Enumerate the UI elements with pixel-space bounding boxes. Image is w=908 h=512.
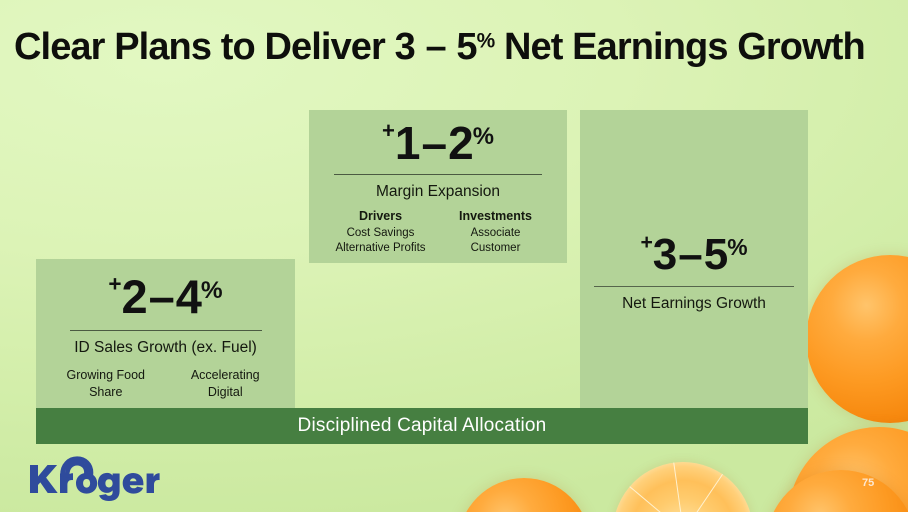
headline-high-value: 2 [448, 117, 473, 169]
orange-slice-icon [613, 462, 753, 512]
card-divider [594, 286, 794, 287]
investments-item: Associate [438, 226, 553, 241]
slide-title: Clear Plans to Deliver 3 – 5% Net Earnin… [14, 26, 898, 69]
margin-expansion-label: Margin Expansion [309, 183, 567, 201]
headline-dash: – [676, 230, 703, 279]
card-id-sales-growth: +2–4% ID Sales Growth (ex. Fuel) Growing… [36, 259, 295, 408]
headline-high-value: 5 [704, 230, 727, 279]
orange-fruit-icon [458, 478, 590, 512]
banner-label: Disciplined Capital Allocation [298, 415, 547, 437]
investments-header: Investments [438, 209, 553, 223]
net-earnings-headline: +3–5% [580, 110, 808, 277]
growing-food-share-item: Share [46, 384, 166, 401]
id-sales-label: ID Sales Growth (ex. Fuel) [36, 339, 295, 357]
card-margin-expansion: +1–2% Margin Expansion Drivers Cost Savi… [309, 110, 567, 263]
slide-title-percent: % [477, 30, 495, 53]
orange-fruit-icon [806, 255, 908, 423]
card-net-earnings-growth: +3–5% Net Earnings Growth [580, 110, 808, 408]
kroger-logo [24, 455, 174, 503]
headline-low-value: 3 [653, 230, 676, 279]
headline-percent-sign: % [727, 234, 747, 260]
card-divider [70, 330, 262, 331]
margin-expansion-headline: +1–2% [309, 110, 567, 166]
headline-percent-sign: % [201, 277, 223, 304]
slide-title-before: Clear Plans to Deliver 3 [14, 26, 424, 68]
headline-plus-sign: + [382, 118, 395, 143]
investments-item: Customer [438, 241, 553, 256]
growing-food-share-column: Growing Food Share [46, 367, 166, 401]
accelerating-digital-column: Accelerating Digital [166, 367, 286, 401]
margin-expansion-columns: Drivers Cost Savings Alternative Profits… [309, 209, 567, 256]
headline-dash: – [420, 117, 449, 169]
slide-title-value: 5 [447, 26, 477, 68]
headline-plus-sign: + [640, 231, 652, 254]
page-number: 75 [862, 477, 874, 489]
id-sales-headline: +2–4% [36, 259, 295, 320]
growing-food-share-item: Growing Food [46, 367, 166, 384]
accelerating-digital-item: Digital [166, 384, 286, 401]
orange-fruit-icon [766, 470, 908, 512]
headline-low-value: 1 [395, 117, 420, 169]
disciplined-capital-allocation-banner: Disciplined Capital Allocation [36, 408, 808, 444]
headline-plus-sign: + [108, 272, 121, 297]
drivers-item: Alternative Profits [323, 241, 438, 256]
drivers-item: Cost Savings [323, 226, 438, 241]
headline-high-value: 4 [176, 270, 201, 323]
headline-percent-sign: % [473, 123, 494, 150]
net-earnings-label: Net Earnings Growth [580, 295, 808, 313]
drivers-column: Drivers Cost Savings Alternative Profits [323, 209, 438, 256]
slide-title-dash: – [424, 26, 446, 68]
investments-column: Investments Associate Customer [438, 209, 553, 256]
accelerating-digital-item: Accelerating [166, 367, 286, 384]
drivers-header: Drivers [323, 209, 438, 223]
slide-canvas: Clear Plans to Deliver 3 – 5% Net Earnin… [0, 0, 908, 512]
id-sales-columns: Growing Food Share Accelerating Digital [36, 367, 295, 401]
headline-dash: – [147, 270, 176, 323]
headline-low-value: 2 [122, 270, 147, 323]
slide-title-after: Net Earnings Growth [494, 26, 864, 68]
card-divider [334, 174, 542, 175]
